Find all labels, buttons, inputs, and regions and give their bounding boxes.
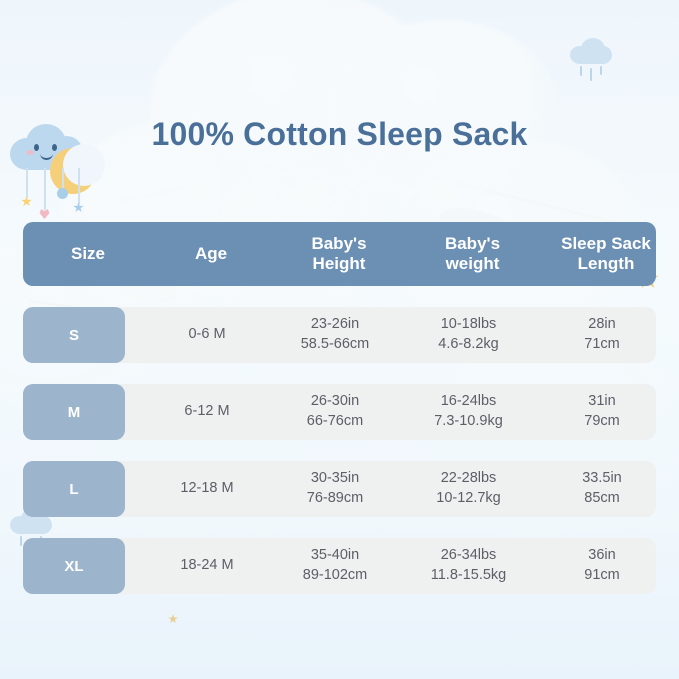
age-cell: 0-6 M — [149, 325, 265, 345]
length-cell: 28in 71cm — [532, 315, 672, 354]
length-cell: 33.5in 85cm — [532, 469, 672, 508]
table-row: S 0-6 M 23-26in 58.5-66cm 10-18lbs 4.6-8… — [23, 307, 656, 363]
table-header-row: Size Age Baby's Height Baby's weight Sle… — [23, 222, 656, 286]
height-cell: 23-26in 58.5-66cm — [265, 315, 405, 354]
size-cell: S — [23, 307, 149, 363]
header-cell-weight: Baby's weight — [409, 234, 536, 273]
header-cell-height: Baby's Height — [269, 234, 409, 273]
length-cell: 36in 91cm — [532, 546, 672, 585]
age-cell: 6-12 M — [149, 402, 265, 422]
weight-cell: 10-18lbs 4.6-8.2kg — [405, 315, 532, 354]
page-title: 100% Cotton Sleep Sack — [0, 116, 679, 153]
weight-cell: 26-34lbs 11.8-15.5kg — [405, 546, 532, 585]
height-cell: 35-40in 89-102cm — [265, 546, 405, 585]
table-row: M 6-12 M 26-30in 66-76cm 16-24lbs 7.3-10… — [23, 384, 656, 440]
age-cell: 12-18 M — [149, 479, 265, 499]
header-cell-size: Size — [23, 244, 153, 264]
sleep-sack-size-chart: 100% Cotton Sleep Sack Size Age Baby's H… — [0, 0, 679, 679]
header-cell-length: Sleep Sack Length — [536, 234, 656, 273]
height-cell: 26-30in 66-76cm — [265, 392, 405, 431]
status-badge: M — [23, 384, 125, 440]
size-cell: L — [23, 461, 149, 517]
table-row: XL 18-24 M 35-40in 89-102cm 26-34lbs 11.… — [23, 538, 656, 594]
weight-cell: 16-24lbs 7.3-10.9kg — [405, 392, 532, 431]
length-cell: 31in 79cm — [532, 392, 672, 431]
height-cell: 30-35in 76-89cm — [265, 469, 405, 508]
status-badge: L — [23, 461, 125, 517]
size-cell: XL — [23, 538, 149, 594]
rain-cloud-icon — [570, 38, 614, 84]
table-row: L 12-18 M 30-35in 76-89cm 22-28lbs 10-12… — [23, 461, 656, 517]
age-cell: 18-24 M — [149, 556, 265, 576]
header-cell-age: Age — [153, 244, 269, 264]
hanging-charms-decoration — [18, 168, 108, 228]
status-badge: XL — [23, 538, 125, 594]
size-chart-table: Size Age Baby's Height Baby's weight Sle… — [23, 222, 656, 594]
size-cell: M — [23, 384, 149, 440]
weight-cell: 22-28lbs 10-12.7kg — [405, 469, 532, 508]
status-badge: S — [23, 307, 125, 363]
